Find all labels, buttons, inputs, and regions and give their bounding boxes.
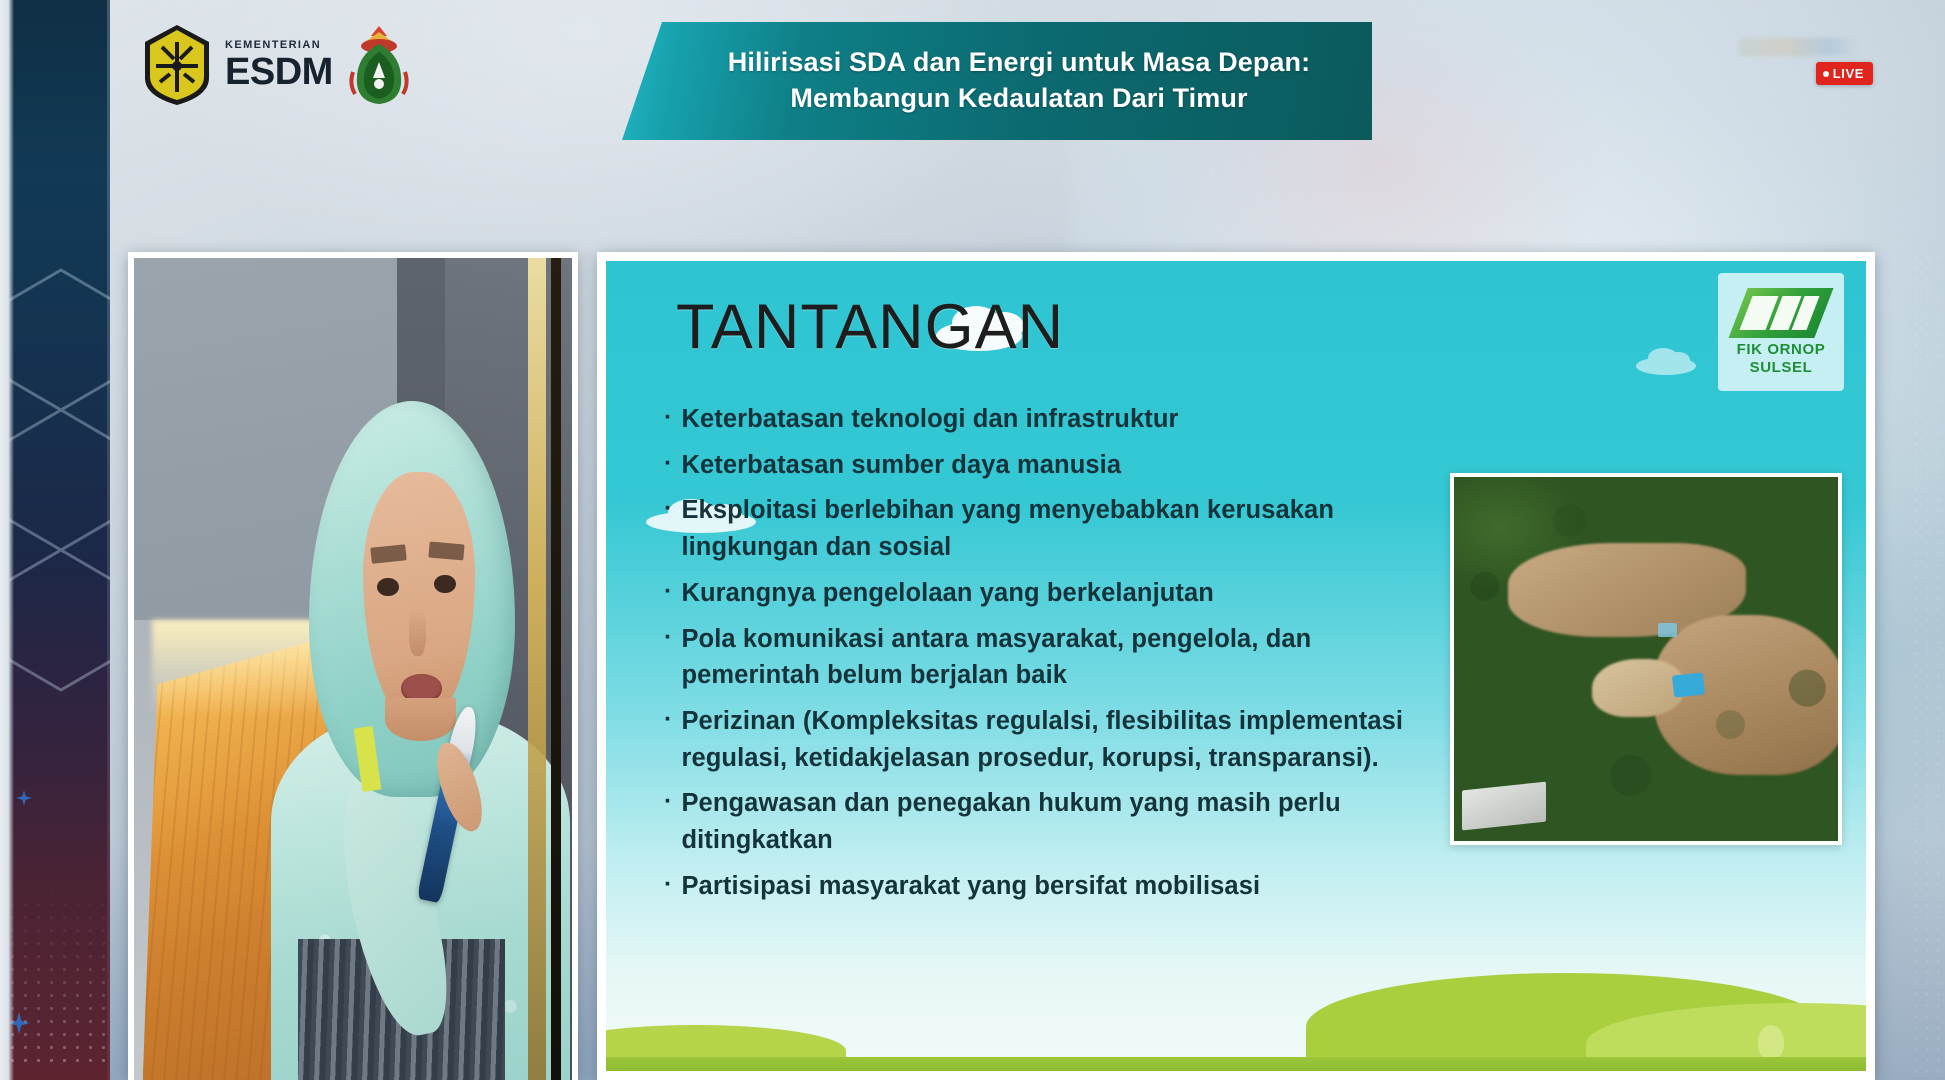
- bullet-marker-icon: ·: [664, 492, 672, 525]
- slide-bullet-list: · Keterbatasan teknologi dan infrastrukt…: [664, 401, 1424, 914]
- header-logos: KEMENTERIAN ESDM: [140, 22, 411, 108]
- dot-grid-pattern: [6, 872, 110, 1072]
- list-item-text: Pengawasan dan penegakan hukum yang masi…: [681, 785, 1424, 858]
- broadcast-stage: KEMENTERIAN ESDM Hilirisasi SDA dan Ener…: [0, 0, 1945, 1080]
- live-status-badge: LIVE: [1816, 62, 1873, 85]
- ground-strip: [606, 1057, 1866, 1071]
- list-item-text: Eksploitasi berlebihan yang menyebabkan …: [681, 492, 1424, 565]
- live-dot-icon: [1823, 71, 1829, 77]
- fik-logo-line-1: FIK ORNOP: [1737, 342, 1826, 359]
- photo-tree-canopy-texture: [1454, 477, 1838, 841]
- program-title-line-2: Membangun Kedaulatan Dari Timur: [728, 81, 1310, 117]
- speaker-video-feed: [134, 258, 572, 1080]
- presentation-slide: TANTANGAN · Keterbatasan teknologi dan i…: [606, 261, 1866, 1071]
- list-item-text: Kurangnya pengelolaan yang berkelanjutan: [681, 575, 1214, 612]
- bullet-marker-icon: ·: [664, 703, 672, 736]
- header-faint-graphic: [1739, 38, 1859, 56]
- fik-ornop-sulsel-logo: FIK ORNOP SULSEL: [1718, 273, 1844, 391]
- bullet-marker-icon: ·: [664, 868, 672, 901]
- slide-title: TANTANGAN: [676, 291, 1064, 363]
- speaker-video-panel: [128, 252, 578, 1080]
- esdm-trisula-logo-icon: [140, 22, 214, 108]
- program-title-text: Hilirisasi SDA dan Energi untuk Masa Dep…: [684, 45, 1310, 116]
- left-white-margin: [0, 0, 14, 1080]
- rail-edge-highlight: [107, 0, 110, 1080]
- studio-light-strip: [528, 258, 546, 1080]
- tree-tuft-icon: [1758, 1025, 1784, 1059]
- live-label: LIVE: [1833, 66, 1864, 81]
- program-title-banner: Hilirisasi SDA dan Energi untuk Masa Dep…: [622, 22, 1372, 140]
- provincial-crest-logo-icon: [347, 22, 411, 108]
- aerial-deforestation-mining-photo: [1450, 473, 1842, 845]
- cloud-icon: [1636, 357, 1696, 375]
- list-item-text: Partisipasi masyarakat yang bersifat mob…: [681, 868, 1260, 905]
- bullet-marker-icon: ·: [664, 621, 672, 654]
- speaker-eye-right: [434, 575, 456, 593]
- speaker-eyebrow-right: [428, 541, 465, 560]
- list-item: · Pengawasan dan penegakan hukum yang ma…: [664, 785, 1424, 858]
- list-item: · Perizinan (Kompleksitas regulalsi, fle…: [664, 703, 1424, 776]
- fik-logo-line-2: SULSEL: [1750, 359, 1813, 376]
- studio-dark-strip: [551, 258, 561, 1080]
- speaker-chin: [385, 698, 456, 740]
- slide-hills-decoration: [606, 961, 1866, 1071]
- presentation-slide-panel: TANTANGAN · Keterbatasan teknologi dan i…: [597, 252, 1875, 1080]
- bullet-marker-icon: ·: [664, 785, 672, 818]
- ministry-kementerian-label: KEMENTERIAN: [225, 40, 333, 51]
- list-item: · Keterbatasan sumber daya manusia: [664, 447, 1424, 484]
- list-item: · Kurangnya pengelolaan yang berkelanjut…: [664, 575, 1424, 612]
- speaker-figure: [287, 373, 559, 1080]
- bullet-marker-icon: ·: [664, 447, 672, 480]
- esdm-wordmark: KEMENTERIAN ESDM: [225, 40, 333, 91]
- hexagon-pattern-icon: [0, 250, 110, 810]
- list-item: · Pola komunikasi antara masyarakat, pen…: [664, 621, 1424, 694]
- ministry-acronym: ESDM: [225, 53, 333, 91]
- fik-ornop-parallelogram-logo-icon: [1738, 288, 1824, 338]
- list-item-text: Perizinan (Kompleksitas regulalsi, flesi…: [681, 703, 1424, 776]
- speaker-nose: [409, 606, 425, 655]
- list-item-text: Keterbatasan teknologi dan infrastruktur: [681, 401, 1178, 438]
- left-decorative-rail: [0, 0, 110, 1080]
- list-item: · Partisipasi masyarakat yang bersifat m…: [664, 868, 1424, 905]
- bullet-marker-icon: ·: [664, 401, 672, 434]
- list-item-text: Pola komunikasi antara masyarakat, penge…: [681, 621, 1424, 694]
- esdm-ministry-logo: KEMENTERIAN ESDM: [140, 22, 333, 108]
- program-title-line-1: Hilirisasi SDA dan Energi untuk Masa Dep…: [728, 45, 1310, 81]
- right-decorative-rail: [1911, 252, 1945, 1080]
- speaker-eye-left: [377, 578, 399, 596]
- list-item: · Eksploitasi berlebihan yang menyebabka…: [664, 492, 1424, 565]
- list-item-text: Keterbatasan sumber daya manusia: [681, 447, 1121, 484]
- list-item: · Keterbatasan teknologi dan infrastrukt…: [664, 401, 1424, 438]
- bullet-marker-icon: ·: [664, 575, 672, 608]
